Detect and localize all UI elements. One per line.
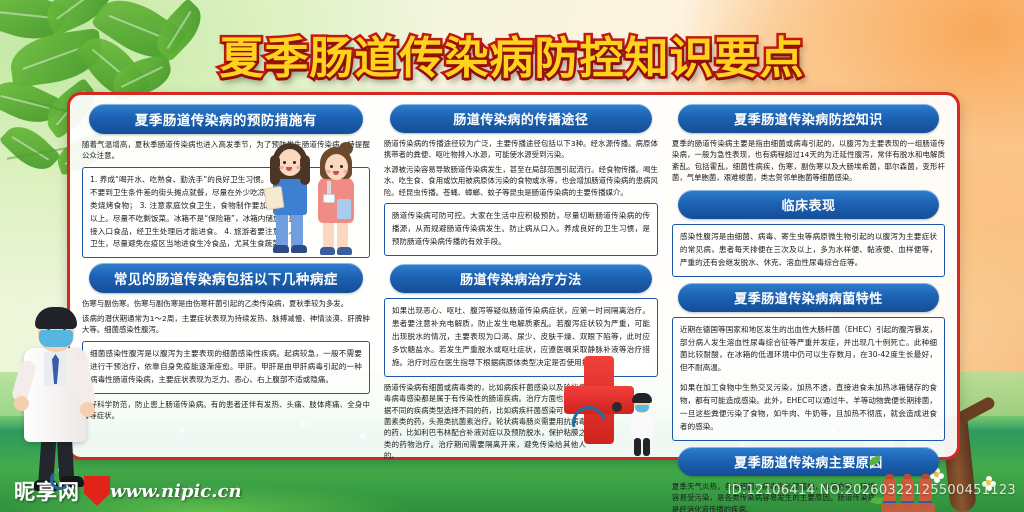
heading-treatment-methods: 肠道传染病治疗方法 <box>390 264 651 293</box>
poster-canvas: 夏季肠道传染病防控知识要点 夏季肠道传染病的预防措施有 随着气温增高，夏秋季肠道… <box>0 0 1024 512</box>
prevention-measures-box: 1. 养成“喝开水、吃熟食、勤洗手”的良好卫生习惯。 2. 尽量不要到卫生条件差… <box>82 167 370 258</box>
transmission-para-1: 肠道传染病的传播途径较为广泛，主要传播途径包括以下3种。经水源传播。病原体携带者… <box>384 138 658 161</box>
content-panel: 夏季肠道传染病的预防措施有 随着气温增高，夏秋季肠道传染病也进入高发季节，为了预… <box>67 92 960 460</box>
transmission-para-2: 水源被污染容易导致肠道传染病发生，甚至在局部范围引起流行。经食物传播。喝生水、吃… <box>384 164 658 198</box>
image-id-code: ID:12106414 NO:20260322125500451123 <box>727 483 1016 498</box>
heading-common-diseases: 常见的肠道传染病包括以下几种病症 <box>89 263 363 293</box>
shield-icon <box>84 476 110 506</box>
common-diseases-box: 细菌感染性腹泻是以腹泻为主要表现的细菌感染性疾病。起病较急，一般不需要进行干预治… <box>82 341 370 394</box>
watermark-brand: 昵享网 <box>14 476 80 506</box>
site-watermark: 昵享网 www.nipic.cn <box>14 476 242 506</box>
health-workers-illustration <box>261 137 365 255</box>
transmission-box: 肠道传染病可防可控。大家在生活中应积极预防，尽量切断肠道传染病的传播源，从而规避… <box>384 203 658 256</box>
column-middle: 肠道传染病的传播途径 肠道传染病的传播途径较为广泛，主要传播途径包括以下3种。经… <box>382 104 660 448</box>
watermark-url: www.nipic.cn <box>110 481 242 502</box>
common-diseases-para-3: 做好科学防范，防止患上肠道传染病。有的患者还伴有发热、头痛、肢体疼痛、全身中毒等… <box>82 399 370 422</box>
common-diseases-para-2: 该病的潜伏期通常为1～2周，主要症状表现为持续发热、脉搏减慢、神情淡漠、肝脾肿大… <box>82 313 370 336</box>
hook-decoration-icon <box>50 470 70 490</box>
common-diseases-box-text: 细菌感染性腹泻是以腹泻为主要表现的细菌感染性疾病。起病较急，一般不需要进行干预治… <box>90 348 362 387</box>
column-right: 夏季肠道传染病防控知识 夏季的肠道传染病主要是指由细菌或病毒引起的，以腹泻为主要… <box>670 104 947 448</box>
heading-transmission-routes: 肠道传染病的传播途径 <box>390 104 651 133</box>
bacteria-characteristics-text-1: 近期在德国等国家和地区发生的出血性大肠杆菌（EHEC）引起的腹泻暴发，部分病人发… <box>680 324 937 376</box>
page-title: 夏季肠道传染病防控知识要点 <box>220 22 805 86</box>
poster-title-wrap: 夏季肠道传染病防控知识要点 <box>0 22 1024 86</box>
summer-prevention-text: 夏季的肠道传染病主要是指由细菌或病毒引起的，以腹泻为主要表现的一组肠道传染病，一… <box>672 138 945 184</box>
heading-summer-prevention-knowledge: 夏季肠道传染病防控知识 <box>678 104 938 133</box>
heading-prevention-measures: 夏季肠道传染病的预防措施有 <box>89 104 363 134</box>
transmission-box-text: 肠道传染病可防可控。大家在生活中应积极预防，尽量切断肠道传染病的传播源，从而规避… <box>392 210 650 249</box>
clinical-manifestations-text: 感染性腹泻是由细菌、病毒、寄生虫等病原微生物引起的以腹泻为主要症状的常见病，患者… <box>680 231 937 270</box>
red-cross-illustration <box>550 350 658 462</box>
clinical-manifestations-box: 感染性腹泻是由细菌、病毒、寄生虫等病原微生物引起的以腹泻为主要症状的常见病，患者… <box>672 224 945 277</box>
common-diseases-para-1: 伤寒与副伤寒。伤寒与副伤寒是由伤寒杆菌引起的乙类传染病，夏秋季较为多发。 <box>82 298 370 309</box>
doctor-illustration <box>6 304 110 494</box>
doctor-figure-small <box>624 396 658 458</box>
bacteria-characteristics-box: 近期在德国等国家和地区发生的出血性大肠杆菌（EHEC）引起的腹泻暴发，部分病人发… <box>672 317 945 441</box>
heading-clinical-manifestations: 临床表现 <box>678 190 938 219</box>
column-left: 夏季肠道传染病的预防措施有 随着气温增高，夏秋季肠道传染病也进入高发季节，为了预… <box>80 104 372 448</box>
treatment-detail-wrap: 肠道传染病有细菌或病毒类的，比如病疾杆菌感染以及轮状病毒病毒感染都是属于有传染性… <box>382 382 660 462</box>
heading-bacteria-characteristics: 夏季肠道传染病病菌特性 <box>678 283 938 312</box>
bacteria-characteristics-text-2: 如果在加工食物中生熟交叉污染，加热不透，直接进食未加热冰箱储存的食物，都有可能造… <box>680 382 937 434</box>
